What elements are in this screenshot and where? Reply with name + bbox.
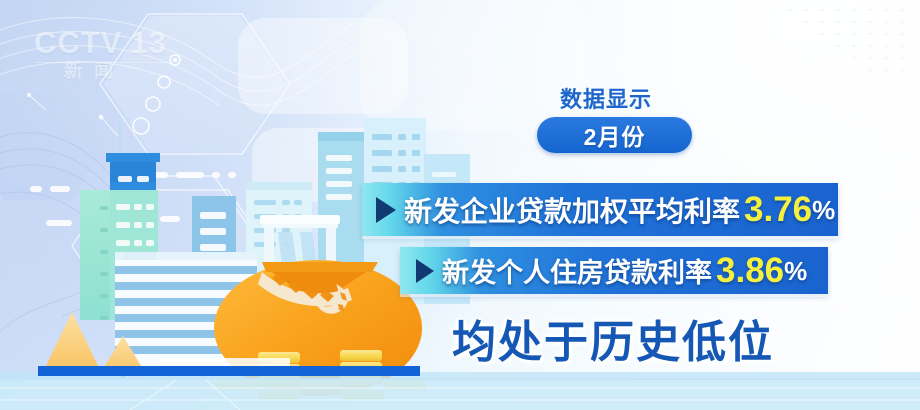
stat-unit: %	[812, 197, 835, 223]
stat-label: 新发个人住房贷款利率	[442, 251, 712, 290]
month-badge-label: 2月份	[584, 118, 646, 152]
money-bag-icon	[214, 260, 422, 396]
tree-icon	[44, 312, 100, 376]
triangle-right-icon	[376, 197, 396, 223]
stat-unit: %	[784, 258, 807, 284]
stat-label: 新发企业贷款加权平均利率	[404, 190, 740, 230]
page-title: 数据显示	[560, 82, 652, 114]
broadcast-graphic: CCTV13 新闻	[0, 0, 920, 410]
month-badge: 2月份	[537, 117, 692, 153]
summary-line: 均处于历史低位	[452, 306, 774, 370]
stat-value: 3.86	[716, 253, 784, 288]
stat-value: 3.76	[744, 192, 812, 227]
stat-bar-personal-housing-loan-rate: 新发个人住房贷款利率 3.86 %	[400, 247, 828, 294]
stat-bar-corporate-loan-rate: 新发企业贷款加权平均利率 3.76 %	[362, 183, 838, 236]
triangle-right-icon	[416, 259, 434, 283]
